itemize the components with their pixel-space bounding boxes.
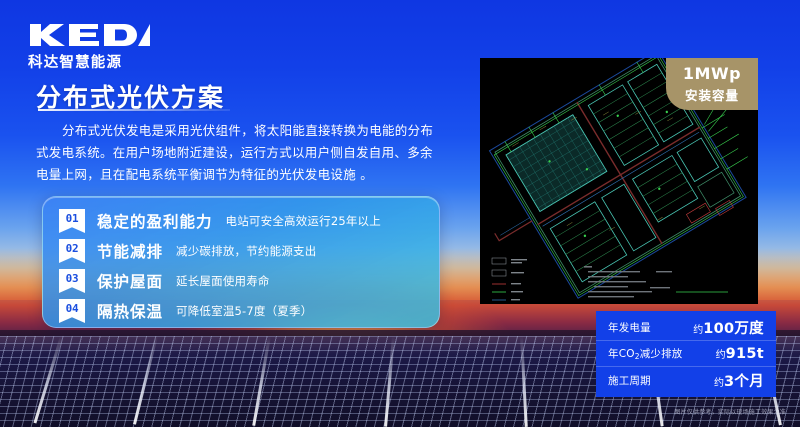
feature-title: 隔热保温 [97, 300, 163, 322]
feature-description: 电站可安全高效运行25年以上 [226, 213, 381, 229]
stat-row-annual-generation: 年发电量 约100万度 [596, 315, 776, 341]
feature-item-03[interactable]: 03 保护屋面 延长屋面使用寿命 [43, 266, 439, 296]
number-badge-icon: 02 [59, 239, 85, 263]
feature-list-card: 01 稳定的盈利能力 电站可安全高效运行25年以上 02 节能减排 减少碳排放，… [42, 196, 440, 328]
feature-description: 减少碳排放，节约能源支出 [176, 243, 316, 259]
stat-value: 约100万度 [693, 317, 764, 338]
feature-title: 稳定的盈利能力 [97, 210, 213, 232]
feature-title: 节能减排 [97, 240, 163, 262]
number-badge-icon: 01 [59, 209, 85, 233]
number-badge-icon: 03 [59, 269, 85, 293]
number-badge-icon: 04 [59, 299, 85, 323]
stat-value: 约915t [716, 346, 764, 362]
feature-title: 保护屋面 [97, 270, 163, 292]
stat-label: 施工周期 [608, 373, 714, 388]
badge-number: 04 [59, 302, 85, 315]
kpi-stats-panel: 年发电量 约100万度 年CO2减少排放 约915t 施工周期 约3个月 [596, 311, 776, 397]
stat-value: 约3个月 [714, 370, 764, 391]
feature-description: 可降低室温5-7度（夏季） [176, 303, 312, 319]
slide-root: 科达智慧能源 分布式光伏方案 分布式光伏发电是采用光伏组件，将太阳能直接转换为电… [0, 0, 800, 427]
brand-logo: 科达智慧能源 [28, 22, 150, 72]
feature-item-04[interactable]: 04 隔热保温 可降低室温5-7度（夏季） [43, 296, 439, 326]
badge-number: 02 [59, 242, 85, 255]
capacity-badge: 1MWp 安装容量 [666, 58, 758, 110]
feature-description: 延长屋面使用寿命 [176, 273, 270, 289]
feature-item-01[interactable]: 01 稳定的盈利能力 电站可安全高效运行25年以上 [43, 206, 439, 236]
keda-wordmark-icon [28, 22, 150, 48]
capacity-value: 1MWp [666, 64, 758, 83]
footer-disclaimer: 图片仅供参考，实际以现场施工效果为准 [0, 407, 786, 416]
brand-name-cn: 科达智慧能源 [28, 51, 150, 72]
stat-row-construction-period: 施工周期 约3个月 [596, 367, 776, 393]
capacity-label: 安装容量 [666, 85, 758, 104]
feature-item-02[interactable]: 02 节能减排 减少碳排放，节约能源支出 [43, 236, 439, 266]
title-underline [38, 109, 230, 111]
stat-row-co2-reduction: 年CO2减少排放 约915t [596, 341, 776, 367]
badge-number: 01 [59, 212, 85, 225]
cad-site-plan-image[interactable]: 1MWp 安装容量 [480, 58, 758, 304]
intro-paragraph: 分布式光伏发电是采用光伏组件，将太阳能直接转换为电能的分布式发电系统。在用户场地… [36, 120, 444, 186]
stat-label: 年CO2减少排放 [608, 346, 716, 361]
badge-number: 03 [59, 272, 85, 285]
stat-label: 年发电量 [608, 320, 693, 335]
